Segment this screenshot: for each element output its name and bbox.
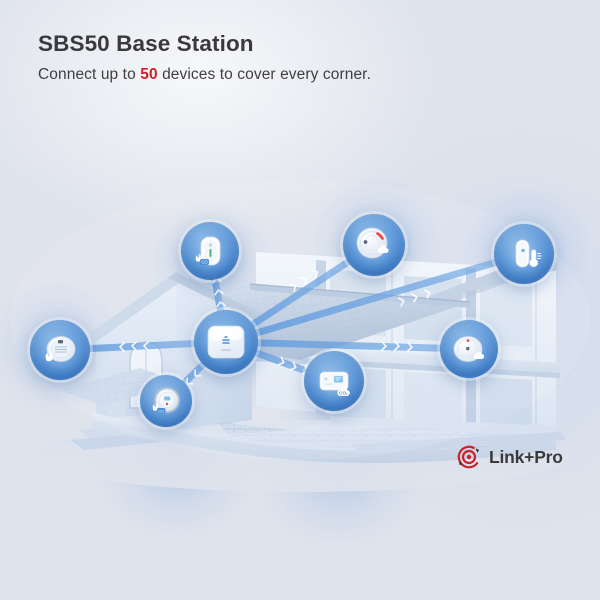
connection-beams: [0, 120, 600, 500]
thermometer-badge: [530, 250, 541, 267]
sbs50-base-station-hub[interactable]: [194, 310, 258, 374]
svg-text:CO₂: CO₂: [339, 390, 348, 395]
heat-alarm[interactable]: [440, 320, 498, 378]
temperature-humidity-sensor[interactable]: [494, 224, 554, 284]
subtitle-text-after: devices to cover every corner.: [158, 66, 371, 83]
co-detector-lower-left[interactable]: CO: [140, 375, 192, 427]
gas-detector-left[interactable]: [30, 320, 90, 380]
gas-leak-sensor[interactable]: CO: [181, 222, 239, 280]
carbon-monoxide-detector[interactable]: CO₂: [304, 351, 364, 411]
target-swirl-icon: [456, 444, 482, 470]
product-poster: SBS50 Base Station Connect up to 50 devi…: [0, 0, 600, 600]
smart-home-scene: CO: [0, 120, 600, 500]
svg-text:CO: CO: [201, 260, 208, 265]
smoke-detector[interactable]: [343, 214, 405, 276]
subtitle-text-before: Connect up to: [38, 66, 140, 83]
page-subtitle: Connect up to 50 devices to cover every …: [38, 66, 558, 84]
headline-block: SBS50 Base Station Connect up to 50 devi…: [38, 30, 558, 84]
brand-logo: Link+Pro: [456, 444, 563, 470]
device-count-value: 50: [140, 66, 157, 83]
svg-text:CO: CO: [158, 408, 164, 413]
page-title: SBS50 Base Station: [38, 30, 558, 57]
brand-name: Link+Pro: [489, 447, 563, 468]
